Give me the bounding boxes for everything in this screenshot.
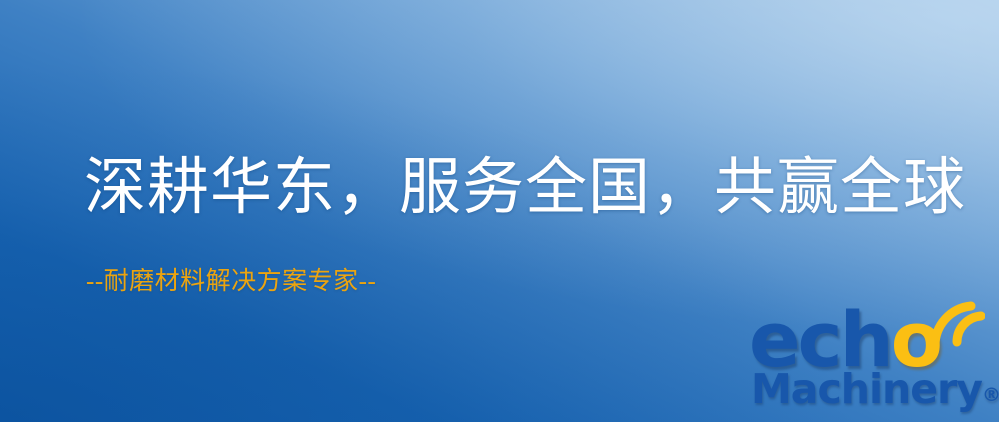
promo-banner: 深耕华东，服务全国，共赢全球 --耐磨材料解决方案专家-- echo Machi… — [0, 0, 999, 422]
logo-tagline: Machinery® — [751, 366, 999, 418]
logo-wordmark: echo — [745, 296, 995, 376]
banner-headline: 深耕华东，服务全国，共赢全球 — [84, 150, 966, 226]
signal-waves-icon — [921, 292, 985, 352]
company-logo[interactable]: echo Machinery® — [745, 296, 995, 418]
logo-tagline-text: Machinery — [751, 365, 982, 413]
registered-trademark-icon: ® — [982, 384, 999, 406]
banner-subheadline: --耐磨材料解决方案专家-- — [86, 266, 376, 298]
